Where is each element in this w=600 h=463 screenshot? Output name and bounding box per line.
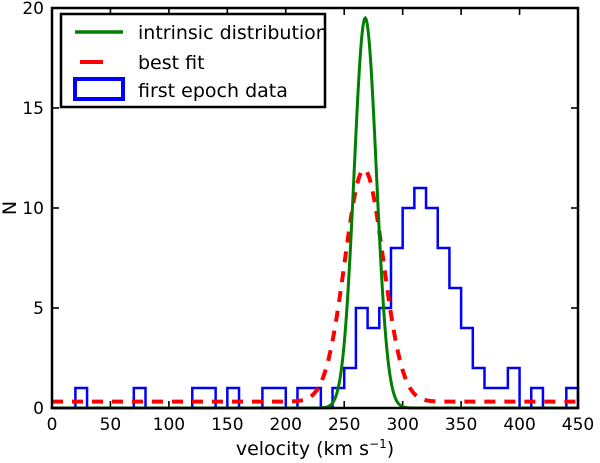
x-tick-label: 400 — [503, 415, 535, 435]
y-tick-label: 0 — [33, 399, 44, 419]
legend-label: intrinsic distribution — [138, 22, 328, 44]
x-axis-title: velocity (km s−1) — [236, 437, 394, 460]
x-tick-label: 0 — [47, 415, 58, 435]
y-axis-title: N — [0, 201, 21, 215]
x-tick-label: 200 — [270, 415, 302, 435]
x-axis-title-tail: ) — [387, 438, 394, 460]
x-tick-label: 350 — [445, 415, 477, 435]
y-tick-label: 20 — [22, 0, 44, 19]
y-tick-label: 5 — [33, 299, 44, 319]
x-axis-tick-labels: 050100150200250300350400450 — [47, 415, 595, 435]
legend-swatch-histogram — [75, 79, 123, 99]
figure-container: 050100150200250300350400450 05101520 vel… — [0, 0, 600, 463]
chart-plot: 050100150200250300350400450 05101520 vel… — [0, 0, 600, 463]
legend-label: best fit — [138, 52, 205, 74]
x-tick-label: 450 — [562, 415, 594, 435]
y-axis-tick-labels: 05101520 — [22, 0, 44, 419]
x-axis-title-main: velocity (km s — [236, 438, 369, 460]
y-tick-label: 15 — [22, 99, 44, 119]
y-tick-label: 10 — [22, 199, 44, 219]
x-tick-label: 250 — [328, 415, 360, 435]
x-tick-label: 300 — [386, 415, 418, 435]
legend-label: first epoch data — [138, 80, 288, 102]
x-tick-label: 150 — [211, 415, 243, 435]
x-tick-label: 100 — [153, 415, 185, 435]
chart-legend: intrinsic distributionbest fitfirst epoc… — [61, 14, 328, 107]
x-tick-label: 50 — [100, 415, 122, 435]
x-axis-title-exponent: −1 — [369, 437, 387, 451]
